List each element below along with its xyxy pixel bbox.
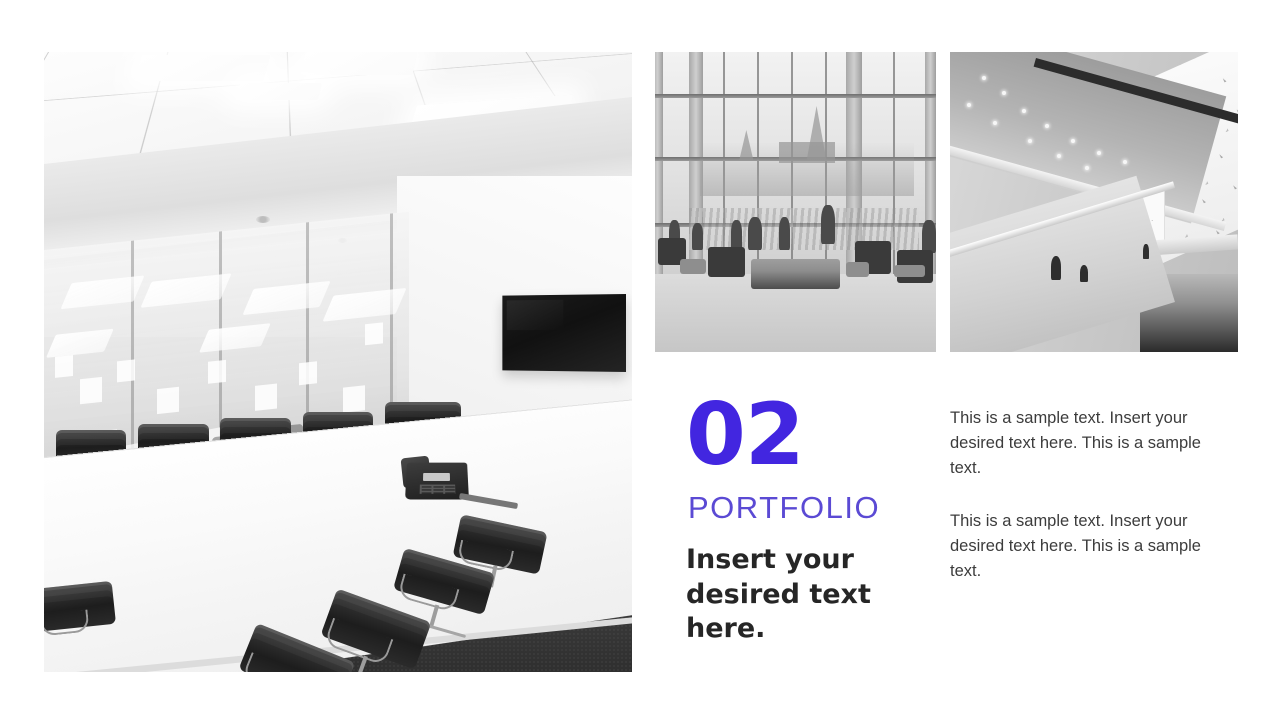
person-on-stairs xyxy=(1080,265,1089,282)
body-paragraph: This is a sample text. Insert your desir… xyxy=(950,509,1206,584)
seated-person xyxy=(731,220,742,250)
meeting-room-photo xyxy=(44,52,632,672)
museum-stairs-photo xyxy=(950,52,1238,352)
ceiling-spotlight xyxy=(1057,154,1061,158)
ceiling-spotlight xyxy=(1071,139,1075,143)
section-label: PORTFOLIO xyxy=(688,492,880,523)
distant-person xyxy=(1143,244,1149,259)
atrium-lobby-photo xyxy=(655,52,936,352)
ceiling-light-panel xyxy=(236,83,323,100)
ceiling-spotlight xyxy=(1045,124,1049,128)
light-reflection xyxy=(323,288,407,322)
side-table xyxy=(894,265,925,277)
side-table xyxy=(680,259,705,274)
ceiling-spotlight xyxy=(1123,160,1127,164)
frosted-glass-decal xyxy=(117,359,135,382)
ceiling-spotlight xyxy=(1002,91,1006,95)
section-number: 02 xyxy=(686,392,804,478)
desk-phone xyxy=(406,449,468,502)
light-reflection xyxy=(46,329,114,358)
frosted-glass-decal xyxy=(343,386,365,413)
person-on-stairs xyxy=(1051,256,1061,280)
light-reflection xyxy=(200,324,272,353)
body-paragraph: This is a sample text. Insert your desir… xyxy=(950,406,1206,481)
ceiling-spotlight xyxy=(1022,109,1026,113)
standing-person xyxy=(821,205,835,244)
wall-mounted-tv xyxy=(502,294,626,372)
phone-screen xyxy=(423,474,450,482)
conference-chair xyxy=(44,581,117,633)
frosted-glass-decal xyxy=(55,355,73,378)
lounge-sofa xyxy=(751,259,841,289)
building-mass xyxy=(779,142,835,163)
lounge-chair xyxy=(708,247,745,277)
body-text-column: This is a sample text. Insert your desir… xyxy=(950,406,1206,584)
frosted-glass-decal xyxy=(80,377,102,404)
frosted-glass-decal xyxy=(255,384,277,411)
presentation-slide: 02 PORTFOLIO Insert your desired text he… xyxy=(0,0,1280,720)
ceiling-spotlight xyxy=(1028,139,1032,143)
frosted-glass-decal xyxy=(365,323,383,346)
window-transom xyxy=(655,94,936,98)
frosted-glass-decal xyxy=(299,362,317,385)
seated-person xyxy=(922,220,936,253)
frosted-glass-decal xyxy=(208,361,226,384)
ceiling-light-panel xyxy=(134,55,271,81)
side-table xyxy=(846,262,868,277)
ceiling-light-panel xyxy=(300,52,417,75)
seated-person xyxy=(692,223,703,250)
seated-person xyxy=(748,217,762,250)
phone-keypad xyxy=(419,485,456,495)
ceiling-spotlight xyxy=(982,76,986,80)
frosted-glass-decal xyxy=(157,387,179,414)
ceiling-spotlight xyxy=(1097,151,1101,155)
page-title: Insert your desired text here. xyxy=(686,543,886,647)
light-reflection xyxy=(243,281,331,315)
seated-person xyxy=(779,217,790,250)
